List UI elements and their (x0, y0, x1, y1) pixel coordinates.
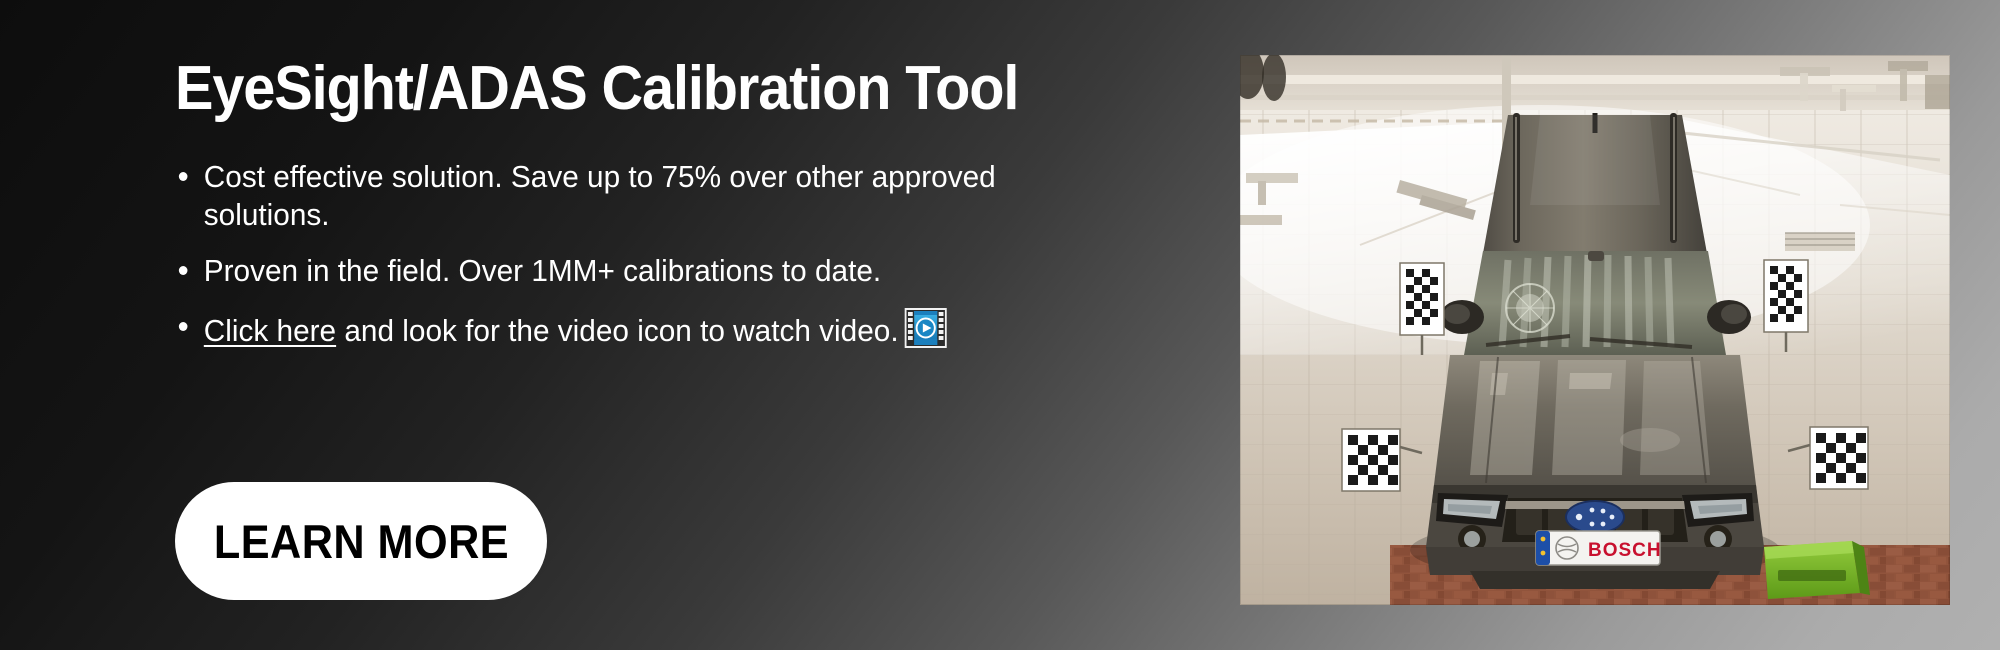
banner-content: EyeSight/ADAS Calibration Tool Cost effe… (175, 0, 1185, 650)
page-title: EyeSight/ADAS Calibration Tool (175, 52, 1018, 126)
list-item: Proven in the field. Over 1MM+ calibrati… (175, 252, 1020, 290)
bullet-text: Proven in the field. Over 1MM+ calibrati… (204, 253, 881, 288)
video-filmstrip-icon[interactable] (904, 308, 946, 348)
learn-more-label: LEARN MORE (213, 514, 508, 569)
promo-banner: EyeSight/ADAS Calibration Tool Cost effe… (0, 0, 2000, 650)
list-item: Cost effective solution. Save up to 75% … (175, 158, 1020, 234)
bullet-dot-icon (179, 266, 188, 275)
list-item: Click here and look for the video icon t… (175, 308, 1020, 350)
click-here-link[interactable]: Click here (204, 313, 336, 348)
svg-text:BOSCH: BOSCH (1588, 540, 1662, 561)
calibration-photo: BOSCH (1240, 55, 1950, 605)
bullet-text: and look for the video icon to watch vid… (336, 313, 898, 348)
learn-more-button[interactable]: LEARN MORE (175, 482, 547, 600)
bullet-dot-icon (179, 322, 188, 331)
bullet-text: Cost effective solution. Save up to 75% … (204, 159, 996, 232)
bullet-dot-icon (179, 172, 188, 181)
feature-bullet-list: Cost effective solution. Save up to 75% … (175, 158, 1055, 368)
